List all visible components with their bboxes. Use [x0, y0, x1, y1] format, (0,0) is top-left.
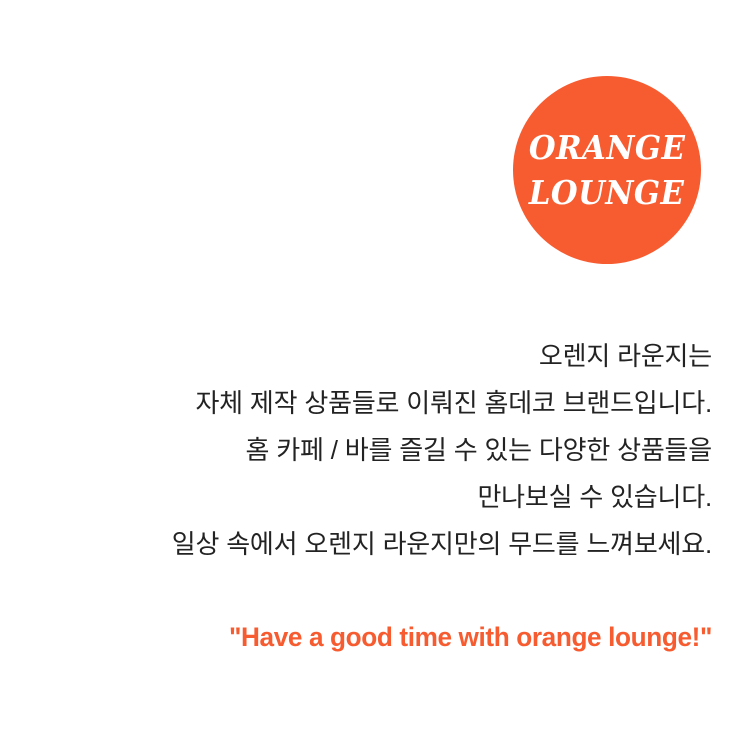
brand-description: 오렌지 라운지는 자체 제작 상품들로 이뤄진 홈데코 브랜드입니다. 홈 카페… — [38, 333, 712, 568]
logo-text-orange: ORANGE — [529, 131, 686, 164]
description-line-4: 만나보실 수 있습니다. — [38, 474, 712, 521]
description-line-3: 홈 카페 / 바를 즐길 수 있는 다양한 상품들을 — [38, 427, 712, 474]
description-line-2: 자체 제작 상품들로 이뤄진 홈데코 브랜드입니다. — [38, 380, 712, 427]
description-line-5: 일상 속에서 오렌지 라운지만의 무드를 느껴보세요. — [38, 521, 712, 568]
logo-text-lounge: LOUNGE — [529, 176, 685, 209]
brand-tagline: "Have a good time with orange lounge!" — [58, 620, 712, 654]
description-line-1: 오렌지 라운지는 — [38, 333, 712, 380]
orange-lounge-logo-badge: ORANGE LOUNGE — [513, 76, 701, 264]
brand-intro-page: ORANGE LOUNGE 오렌지 라운지는 자체 제작 상품들로 이뤄진 홈데… — [0, 0, 750, 750]
